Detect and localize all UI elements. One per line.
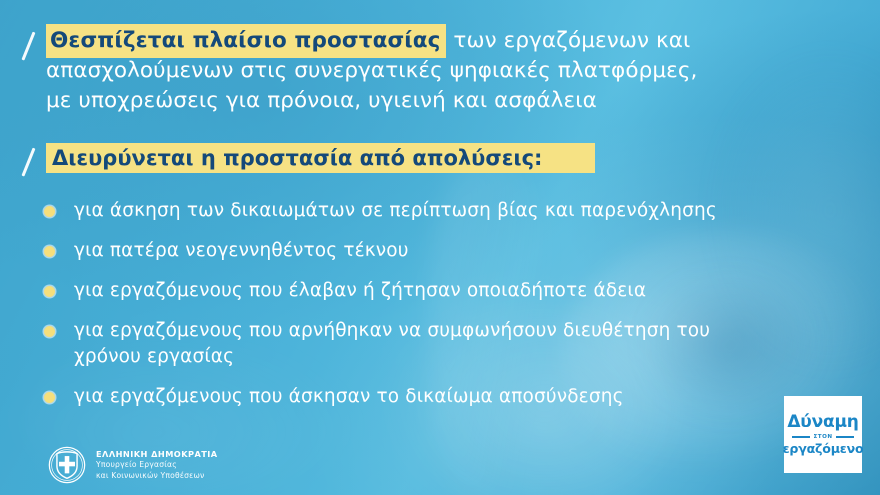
ministry-line-1: ΕΛΛΗΝΙΚΗ ΔΗΜΟΚΡΑΤΙΑ [96,449,218,460]
ministry-text-block: ΕΛΛΗΝΙΚΗ ΔΗΜΟΚΡΑΤΙΑ Υπουργείο Εργασίας κ… [96,449,218,481]
campaign-logo-divider: ΣΤΟΝ [792,434,854,440]
campaign-logo: Δύναμη ΣΤΟΝ εργαζόμενο [784,396,862,473]
slash-marker-icon [21,32,35,61]
bullet-list: για άσκηση των δικαιωμάτων σε περίπτωση … [44,198,764,424]
heading-block-2: Διευρύνεται η προστασία από απολύσεις: [46,143,595,173]
presentation-slide: Θεσπίζεται πλαίσιο προστασίας των εργαζό… [0,0,880,495]
list-item-label: για πατέρα νεογεννηθέντος τέκνου [74,238,409,264]
list-item-label: για εργαζόμενους που έλαβαν ή ζήτησαν οπ… [74,278,646,304]
campaign-logo-bottom: εργαζόμενο [783,441,864,456]
ministry-logo: ΕΛΛΗΝΙΚΗ ΔΗΜΟΚΡΑΤΙΑ Υπουργείο Εργασίας κ… [48,446,218,484]
bullet-dot-icon [44,286,55,297]
divider-rule-right [836,436,854,437]
bullet-dot-icon [44,246,55,257]
slide-content: Θεσπίζεται πλαίσιο προστασίας των εργαζό… [0,0,880,495]
list-item-label: για εργαζόμενους που αρνήθηκαν να συμφων… [74,318,744,370]
ministry-line-2: Υπουργείο Εργασίας [96,460,218,471]
campaign-logo-top: Δύναμη [787,413,858,432]
list-item: για εργαζόμενους που άσκησαν το δικαίωμα… [44,384,764,410]
list-item-label: για άσκηση των δικαιωμάτων σε περίπτωση … [74,198,717,224]
slash-marker-icon [21,148,35,177]
ministry-line-3: και Κοινωνικών Υποθέσεων [96,471,218,482]
heading-block-1: Θεσπίζεται πλαίσιο προστασίας των εργαζό… [46,26,706,116]
bullet-dot-icon [44,326,55,337]
list-item: για εργαζόμενους που αρνήθηκαν να συμφων… [44,318,764,370]
list-item: για άσκηση των δικαιωμάτων σε περίπτωση … [44,198,764,224]
list-item-label: για εργαζόμενους που άσκησαν το δικαίωμα… [74,384,624,410]
bullet-dot-icon [44,206,55,217]
list-item: για εργαζόμενους που έλαβαν ή ζήτησαν οπ… [44,278,764,304]
heading-1-highlight: Θεσπίζεται πλαίσιο προστασίας [46,24,446,58]
list-item: για πατέρα νεογεννηθέντος τέκνου [44,238,764,264]
divider-rule-left [792,436,810,437]
campaign-logo-middle: ΣΤΟΝ [810,434,835,440]
greek-republic-emblem-icon [48,446,86,484]
bullet-dot-icon [44,392,55,403]
